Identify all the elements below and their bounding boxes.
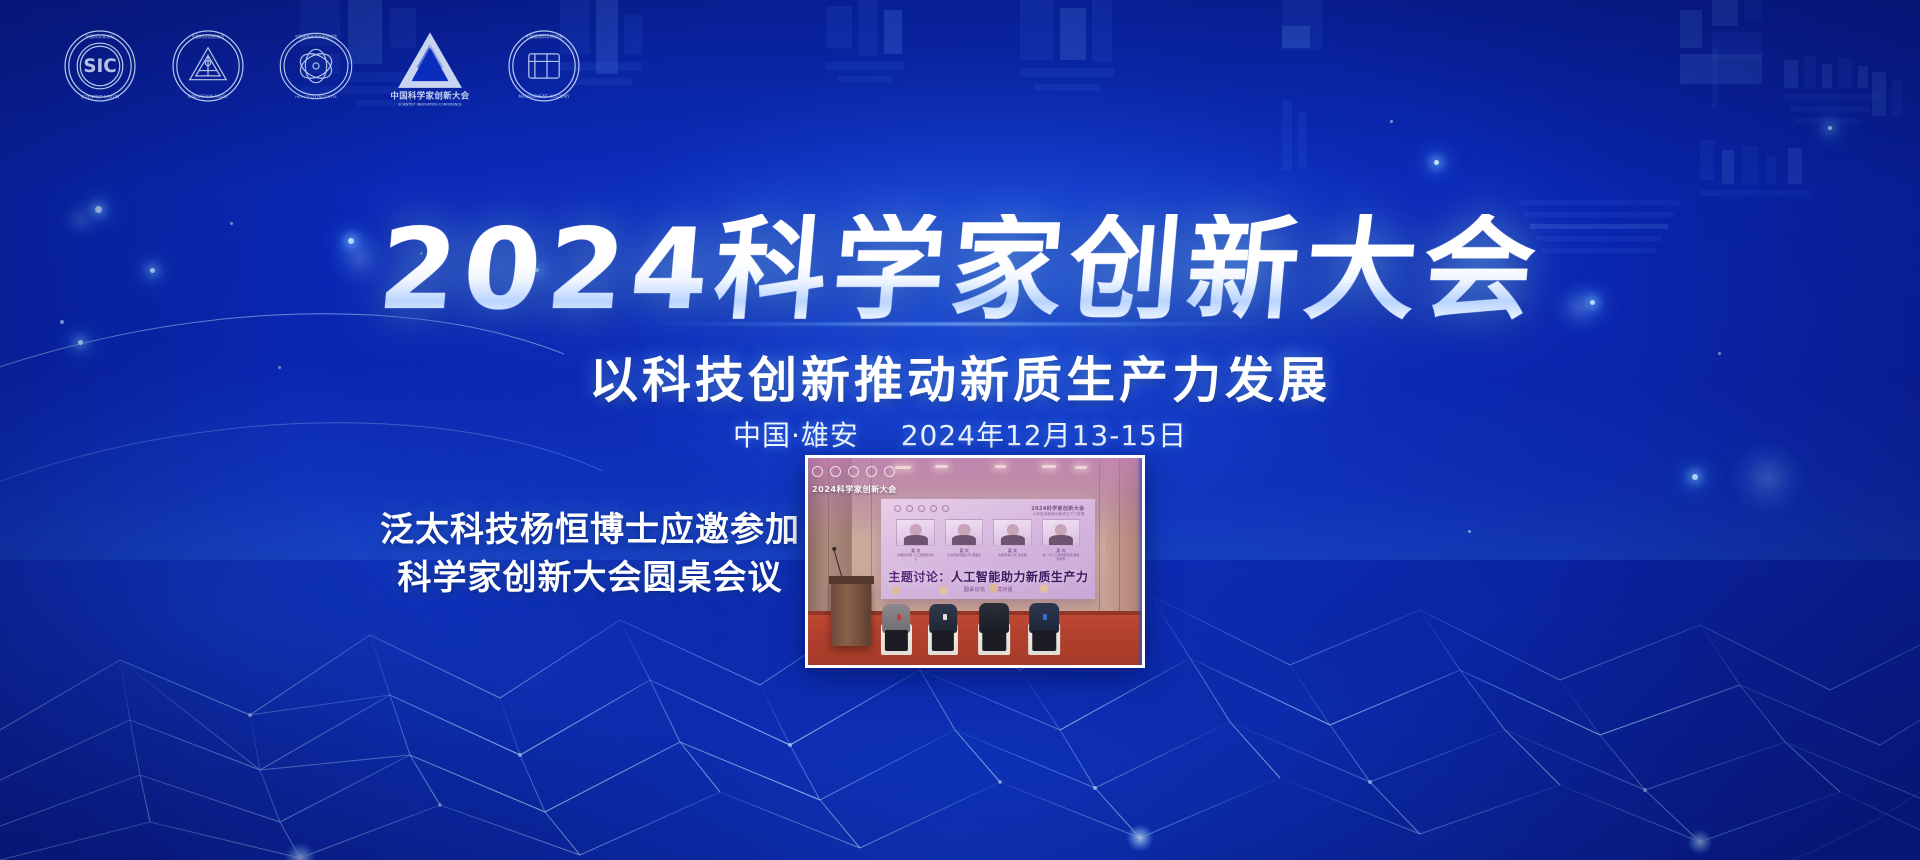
session-title-main: 人工智能助力新质生产力	[951, 570, 1089, 584]
caption-line-1: 泛太科技杨恒博士应邀参加	[380, 506, 800, 554]
svg-text:HIGH-TECH INSTITUTE: HIGH-TECH INSTITUTE	[295, 94, 337, 99]
seated-person	[1028, 584, 1060, 654]
emblem-icon-5	[884, 466, 895, 477]
triangle-emblem-logo: 中国科学家创新大会 SCIENTIST INNOVATION CONFERENC…	[386, 24, 474, 108]
svg-text:中国科学家创新大会: 中国科学家创新大会	[390, 91, 469, 101]
photo-podium	[831, 580, 871, 646]
svg-text:SCIENTIST FORUM: SCIENTIST FORUM	[81, 95, 120, 101]
emblem-icon-2	[830, 466, 841, 477]
panelist-card: 嘉 宾 泛太科技有限公司 董事长	[945, 519, 984, 563]
title-underline-glow	[640, 322, 1280, 326]
organizer-logo-row: SIC 中国科学家论坛 SCIENTIST FORUM	[62, 24, 582, 108]
panelist-card: 嘉 宾 新一代人工智能研究院 首席科学家	[1042, 519, 1081, 563]
svg-text:中国科学家论坛: 中国科学家论坛	[85, 33, 116, 40]
panelist-card: 嘉 宾 创新科技公司 总经理	[993, 519, 1032, 563]
photo-blue-edge	[1137, 458, 1142, 665]
academy-emblem-logo: 中国管理科学研究院 MANAGEMENT ACADEMY	[506, 28, 582, 104]
sic-emblem-logo: SIC 中国科学家论坛 SCIENTIST FORUM	[62, 28, 138, 104]
svg-text:INNOVATION ASSOC: INNOVATION ASSOC	[188, 94, 229, 99]
svg-text:SIC: SIC	[83, 56, 116, 77]
svg-text:MANAGEMENT ACADEMY: MANAGEMENT ACADEMY	[518, 94, 570, 99]
emblem-icon-3	[848, 466, 859, 477]
seated-person	[881, 586, 911, 654]
photo-header-title: 2024科学家创新大会	[812, 484, 897, 495]
lanyard-badge	[1043, 614, 1047, 620]
photo-podium-top	[829, 576, 874, 584]
photo-header-icons	[812, 466, 895, 477]
screen-panelist-portraits: 嘉 宾 中国科学院 人工智能研究中心 嘉 宾 泛太科技有限公司 董事长 嘉 宾 …	[896, 519, 1080, 563]
association-emblem-logo: 中国科技创新协会 INNOVATION ASSOC	[170, 28, 246, 104]
emblem-icon-4	[866, 466, 877, 477]
screen-brand: 2024科学家创新大会 以科技创新推动新质生产力发展	[1031, 505, 1084, 517]
event-caption: 泛太科技杨恒博士应邀参加 科学家创新大会圆桌会议	[380, 506, 800, 603]
svg-text:中国科技创新协会: 中国科技创新协会	[192, 33, 225, 39]
svg-text:SCIENTIST INNOVATION CONFERENC: SCIENTIST INNOVATION CONFERENCE	[398, 102, 461, 106]
roundtable-photo: 2024科学家创新大会 2024科学家创新大会 以科技创新推动新质生产力发展 嘉…	[805, 455, 1145, 668]
caption-line-2: 科学家创新大会圆桌会议	[380, 554, 800, 602]
panelist-card: 嘉 宾 中国科学院 人工智能研究中心	[896, 519, 935, 563]
screen-brand-sub: 以科技创新推动新质生产力发展	[1031, 512, 1084, 517]
main-title: 2024科学家创新大会	[0, 214, 1920, 326]
emblem-icon-1	[812, 466, 823, 477]
screen-emblem-icons	[894, 505, 949, 512]
conference-banner: SIC 中国科学家论坛 SCIENTIST FORUM	[0, 0, 1920, 860]
svg-text:中国管理科学研究院: 中国管理科学研究院	[526, 33, 563, 39]
institute-emblem-logo: 中国高新技术产业研究院 HIGH-TECH INSTITUTE	[278, 28, 354, 104]
seated-person-speaking	[978, 584, 1010, 654]
svg-text:中国高新技术产业研究院: 中国高新技术产业研究院	[295, 34, 337, 39]
seated-person	[928, 586, 958, 654]
handheld-microphone-icon	[996, 605, 999, 614]
session-title-prefix: 主题讨论：	[888, 570, 951, 584]
screen-session-title: 主题讨论：人工智能助力新质生产力	[881, 568, 1095, 585]
